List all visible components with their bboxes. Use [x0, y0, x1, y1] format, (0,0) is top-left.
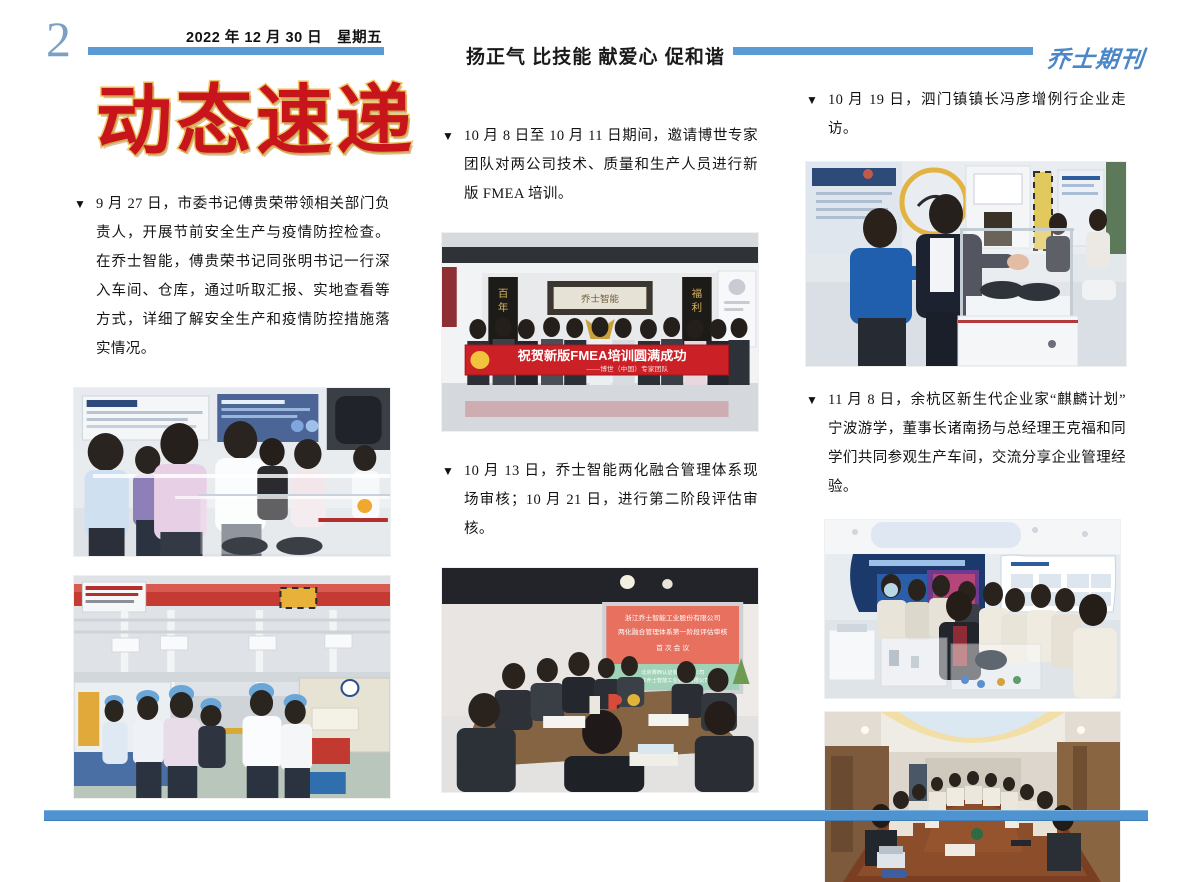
svg-text:首 次 会 议: 首 次 会 议 [656, 643, 689, 652]
svg-text:祝贺新版FMEA培训圆满成功: 祝贺新版FMEA培训圆满成功 [518, 348, 687, 363]
photo-audit-meeting: 浙江乔士智能工业股份有限公司 两化融合管理体系第一阶段评估审核 首 次 会 议 … [442, 568, 758, 792]
column-left: ▼ 9 月 27 日，市委书记傅贵荣带领相关部门负责人，开展节前安全生产与疫情防… [74, 78, 390, 798]
svg-text:浙江乔士智能工业股份有限公司: 浙江乔士智能工业股份有限公司 [625, 613, 721, 622]
masthead-slogan: 扬正气 比技能 献爱心 促和谐 [466, 42, 725, 69]
column-middle: ▼ 10 月 8 日至 10 月 11 日期间，邀请博世专家团队对两公司技术、质… [442, 78, 758, 792]
article-paragraph: ▼ 11 月 8 日，余杭区新生代企业家“麒麟计划”宁波游学，董事长诸南扬与总经… [806, 386, 1126, 502]
bullet-triangle-icon: ▼ [74, 190, 86, 219]
svg-text:浙江乔士智能工业股份有限公司: 浙江乔士智能工业股份有限公司 [636, 676, 710, 684]
footer-rule [44, 810, 1148, 821]
article-paragraph: ▼ 10 月 13 日，乔士智能两化融合管理体系现场审核；10 月 21 日，进… [442, 457, 758, 544]
article-text: 9 月 27 日，市委书记傅贵荣带领相关部门负责人，开展节前安全生产与疫情防控检… [96, 196, 390, 357]
bullet-triangle-icon: ▼ [806, 386, 818, 415]
article-paragraph: ▼ 10 月 8 日至 10 月 11 日期间，邀请博世专家团队对两公司技术、质… [442, 122, 758, 209]
photo-workshop-tour [74, 576, 390, 798]
article-text: 11 月 8 日，余杭区新生代企业家“麒麟计划”宁波游学，董事长诸南扬与总经理王… [828, 392, 1126, 495]
svg-text:利: 利 [692, 302, 703, 314]
article-paragraph: ▼ 9 月 27 日，市委书记傅贵荣带领相关部门负责人，开展节前安全生产与疫情防… [74, 190, 390, 364]
photo-qilin-program-showroom [825, 520, 1120, 698]
svg-text:乔士智能: 乔士智能 [581, 293, 619, 304]
svg-text:百: 百 [498, 288, 509, 300]
bullet-triangle-icon: ▼ [806, 86, 818, 115]
issue-date: 2022 年 12 月 30 日 星期五 [186, 26, 382, 47]
svg-text:福: 福 [692, 287, 703, 300]
page-masthead: 2 2022 年 12 月 30 日 星期五 扬正气 比技能 献爱心 促和谐 乔… [0, 0, 1188, 78]
svg-text:年: 年 [498, 301, 509, 314]
article-text: 10 月 13 日，乔士智能两化融合管理体系现场审核；10 月 21 日，进行第… [464, 463, 758, 537]
svg-text:——博世（中国）专家团队: ——博世（中国）专家团队 [586, 364, 668, 373]
page-number: 2 [46, 14, 71, 64]
photo-exhibition-hall-visit [74, 388, 390, 556]
svg-text:两化融合管理体系第一阶段评估审核: 两化融合管理体系第一阶段评估审核 [618, 627, 728, 636]
header-rule-right [733, 47, 1033, 55]
photo-qilin-program-conference [825, 712, 1120, 882]
article-paragraph: ▼ 10 月 19 日，泗门镇镇长冯彦增例行企业走访。 [806, 86, 1126, 144]
column-right: ▼ 10 月 19 日，泗门镇镇长冯彦增例行企业走访。 [806, 78, 1126, 882]
header-rule-left [88, 47, 384, 55]
bullet-triangle-icon: ▼ [442, 457, 454, 486]
brand-logo: 乔士期刊 [1045, 40, 1147, 74]
photo-mayor-visit-showroom [806, 162, 1126, 366]
photo-fmea-training-group: 百 年 福 利 乔士智能 [442, 233, 758, 431]
article-text: 10 月 8 日至 10 月 11 日期间，邀请博世专家团队对两公司技术、质量和… [464, 128, 758, 202]
bullet-triangle-icon: ▼ [442, 122, 454, 151]
article-text: 10 月 19 日，泗门镇镇长冯彦增例行企业走访。 [828, 92, 1126, 137]
